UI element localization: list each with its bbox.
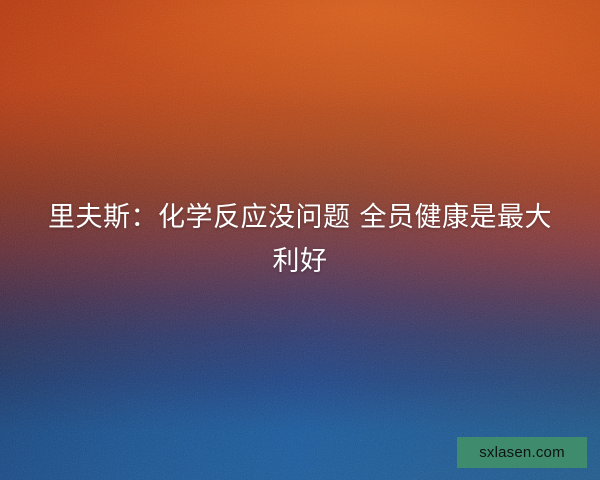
hero-image-canvas: 里夫斯：化学反应没问题 全员健康是最大利好 sxlasen.com [0,0,600,480]
page-title: 里夫斯：化学反应没问题 全员健康是最大利好 [36,196,564,284]
headline-container: 里夫斯：化学反应没问题 全员健康是最大利好 [36,196,564,284]
watermark-badge: sxlasen.com [457,437,587,468]
watermark-label: sxlasen.com [479,444,565,461]
